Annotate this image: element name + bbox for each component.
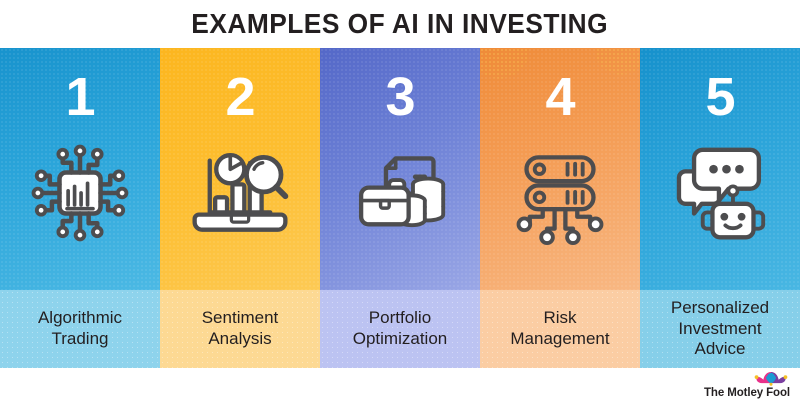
column-1-label-band: Algorithmic Trading [0,290,160,368]
column-portfolio-optimization[interactable]: 3 [320,48,480,368]
laptop-analytics-magnifier-icon [185,138,295,248]
column-4-label: Risk Management [510,308,609,349]
column-1-top: 1 [0,48,160,290]
column-4-top: 4 [480,48,640,290]
column-4-number: 4 [545,70,574,124]
column-2-number: 2 [225,70,254,124]
column-2-top: 2 [160,48,320,290]
columns-container: 1 [0,48,800,368]
jester-hat-icon [754,370,788,386]
column-3-top: 3 [320,48,480,290]
column-5-top: 5 [640,48,800,290]
column-personalized-investment-advice[interactable]: 5 [640,48,800,368]
footer: The Motley Fool [0,368,800,400]
server-circuit-icon [505,138,615,248]
column-sentiment-analysis[interactable]: 2 [160,48,320,368]
column-1-number: 1 [65,70,94,124]
briefcase-growth-coins-icon [345,138,455,248]
column-4-label-band: Risk Management [480,290,640,368]
chatbot-robot-icon [665,138,775,248]
column-2-label-band: Sentiment Analysis [160,290,320,368]
motley-fool-logo[interactable]: The Motley Fool [704,370,790,399]
column-5-label-band: Personalized Investment Advice [640,290,800,368]
column-1-label: Algorithmic Trading [38,308,122,349]
column-3-number: 3 [385,70,414,124]
column-2-label: Sentiment Analysis [202,308,279,349]
column-3-label-band: Portfolio Optimization [320,290,480,368]
column-5-number: 5 [705,70,734,124]
page-title: EXAMPLES OF AI IN INVESTING [192,8,609,40]
brand-name: The Motley Fool [704,387,790,399]
ai-chip-bar-chart-icon [25,138,135,248]
infographic-root: EXAMPLES OF AI IN INVESTING 1 [0,0,800,400]
column-algorithmic-trading[interactable]: 1 [0,48,160,368]
column-risk-management[interactable]: 4 [480,48,640,368]
column-3-label: Portfolio Optimization [353,308,447,349]
column-5-label: Personalized Investment Advice [671,298,769,360]
title-bar: EXAMPLES OF AI IN INVESTING [0,0,800,48]
